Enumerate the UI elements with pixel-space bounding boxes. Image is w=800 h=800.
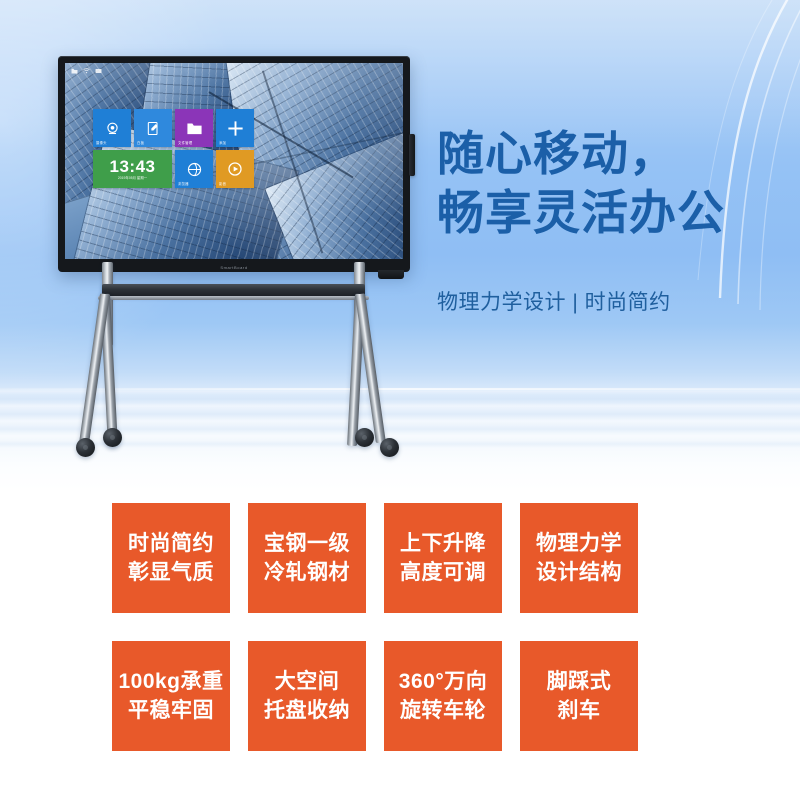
folder-icon — [185, 120, 204, 137]
stand-crossbar — [102, 284, 365, 296]
headline-subtitle: 物理力学设计 | 时尚简约 — [437, 288, 671, 318]
headline-block: 随心移动， 畅享灵活办公 — [437, 124, 787, 242]
tile-label: 影音 — [219, 182, 226, 186]
tile-camera[interactable]: 摄像头 — [93, 109, 131, 147]
caster-wheel — [380, 438, 399, 457]
note-icon — [145, 120, 161, 137]
tile-media[interactable]: 影音 — [216, 150, 254, 188]
tile-add[interactable]: 添加 — [216, 109, 254, 147]
tile-label: 摄像头 — [96, 141, 107, 145]
feature-box: 100kg承重 平稳牢固 — [112, 641, 230, 751]
feature-line-1: 宝钢一级 — [264, 529, 350, 558]
caster-wheel — [76, 438, 95, 457]
headline-line-2: 畅享灵活办公 — [437, 183, 787, 242]
folder-icon — [71, 68, 78, 74]
feature-line-2: 刹车 — [558, 696, 601, 725]
camera-icon — [104, 120, 121, 137]
home-screen-tiles: 摄像头 白板 — [93, 109, 259, 189]
clock-time: 13:43 — [110, 158, 156, 175]
tv-screen[interactable]: 摄像头 白板 — [65, 63, 403, 259]
feature-box: 时尚简约 彰显气质 — [112, 503, 230, 613]
media-icon — [226, 160, 244, 178]
side-control-panel[interactable] — [409, 134, 415, 176]
feature-line-2: 高度可调 — [400, 558, 486, 587]
plus-icon — [226, 119, 245, 138]
feature-line-2: 旋转车轮 — [400, 696, 486, 725]
tile-label: 浏览器 — [178, 182, 189, 186]
feature-box: 宝钢一级 冷轧钢材 — [248, 503, 366, 613]
wifi-icon — [83, 68, 90, 74]
browser-icon — [186, 161, 203, 178]
feature-box: 上下升降 高度可调 — [384, 503, 502, 613]
feature-grid: 时尚简约 彰显气质 宝钢一级 冷轧钢材 上下升降 高度可调 物理力学 设计结构 … — [112, 503, 638, 751]
tile-folder[interactable]: 文件管理 — [175, 109, 213, 147]
tile-clock[interactable]: 13:43 2019年05月 星期一 — [93, 150, 172, 188]
clock-date: 2019年05月 星期一 — [118, 176, 147, 180]
stand-crossbar-lower — [98, 296, 369, 300]
caster-wheel — [355, 428, 374, 447]
feature-line-2: 冷轧钢材 — [264, 558, 350, 587]
feature-line-1: 360°万向 — [399, 667, 487, 696]
hero-banner: 摄像头 白板 — [0, 0, 800, 490]
feature-line-1: 时尚简约 — [128, 529, 214, 558]
interactive-display-on-stand: 摄像头 白板 — [58, 56, 428, 481]
feature-box: 大空间 托盘收纳 — [248, 641, 366, 751]
feature-line-2: 平稳牢固 — [128, 696, 214, 725]
tile-label: 添加 — [219, 141, 226, 145]
feature-line-1: 脚踩式 — [547, 667, 612, 696]
feature-line-2: 设计结构 — [536, 558, 622, 587]
feature-box: 物理力学 设计结构 — [520, 503, 638, 613]
product-advertisement: 摄像头 白板 — [0, 0, 800, 800]
feature-line-1: 上下升降 — [400, 529, 486, 558]
feature-box: 360°万向 旋转车轮 — [384, 641, 502, 751]
screen-status-bar — [71, 68, 102, 74]
feature-line-1: 物理力学 — [536, 529, 622, 558]
tv-bezel: 摄像头 白板 — [58, 56, 410, 272]
tile-note[interactable]: 白板 — [134, 109, 172, 147]
feature-line-2: 托盘收纳 — [264, 696, 350, 725]
tile-browser[interactable]: 浏览器 — [175, 150, 213, 188]
feature-line-2: 彰显气质 — [128, 558, 214, 587]
display-icon — [95, 68, 102, 74]
feature-box: 脚踩式 刹车 — [520, 641, 638, 751]
headline-line-1: 随心移动， — [437, 124, 787, 183]
tile-label: 白板 — [137, 141, 144, 145]
feature-line-1: 100kg承重 — [118, 667, 223, 696]
caster-wheel — [103, 428, 122, 447]
feature-line-1: 大空间 — [275, 667, 340, 696]
mobile-stand-frame — [58, 262, 410, 482]
tile-label: 文件管理 — [178, 141, 192, 145]
